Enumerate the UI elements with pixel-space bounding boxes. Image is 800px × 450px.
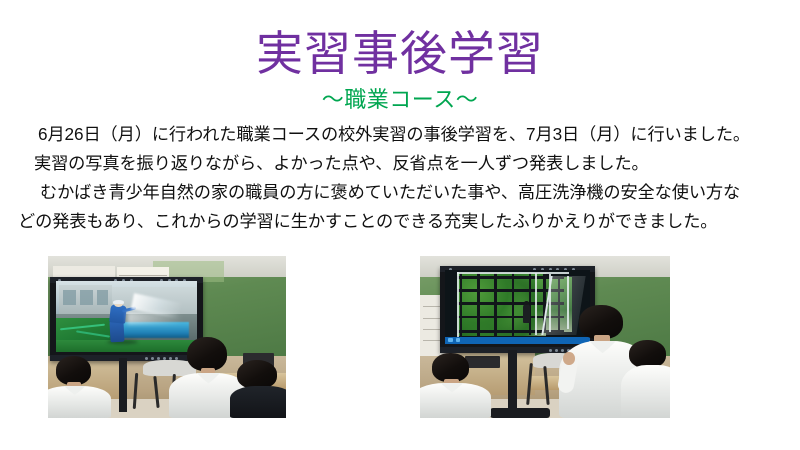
page-title: 実習事後学習 <box>0 24 800 84</box>
body-line-2: 実習の写真を振り返りながら、よかった点や、反省点を一人ずつ発表しました。 <box>18 149 786 178</box>
monitor-stand-base <box>490 408 550 418</box>
body-line-3: むかばき青少年自然の家の職員の方に褒めていただいた事や、高圧洗浄機の安全な使い方… <box>18 178 786 207</box>
photo-right-content <box>420 256 670 418</box>
monitor-stand-neck <box>508 350 517 415</box>
slide-canvas: 実習事後学習 〜職業コース〜 6月26日（月）に行われた職業コースの校外実習の事… <box>0 0 800 450</box>
student-foreground-left <box>425 353 485 418</box>
student-foreground-left <box>48 356 105 418</box>
photo-right <box>420 256 670 418</box>
monitor-stand-neck <box>119 358 127 411</box>
student-background-right <box>625 340 670 418</box>
body-text-block: 6月26日（月）に行われた職業コースの校外実習の事後学習を、7月3日（月）に行い… <box>18 120 786 236</box>
photo-left-content <box>48 256 286 418</box>
body-line-1: 6月26日（月）に行われた職業コースの校外実習の事後学習を、7月3日（月）に行い… <box>18 120 786 149</box>
student-foreground-right <box>234 360 286 418</box>
page-subtitle: 〜職業コース〜 <box>0 86 800 114</box>
photo-left <box>48 256 286 418</box>
title-block: 実習事後学習 〜職業コース〜 <box>0 24 800 114</box>
body-line-4: どの発表もあり、これからの学習に生かすことのできる充実したふりかえりができました… <box>18 207 786 236</box>
